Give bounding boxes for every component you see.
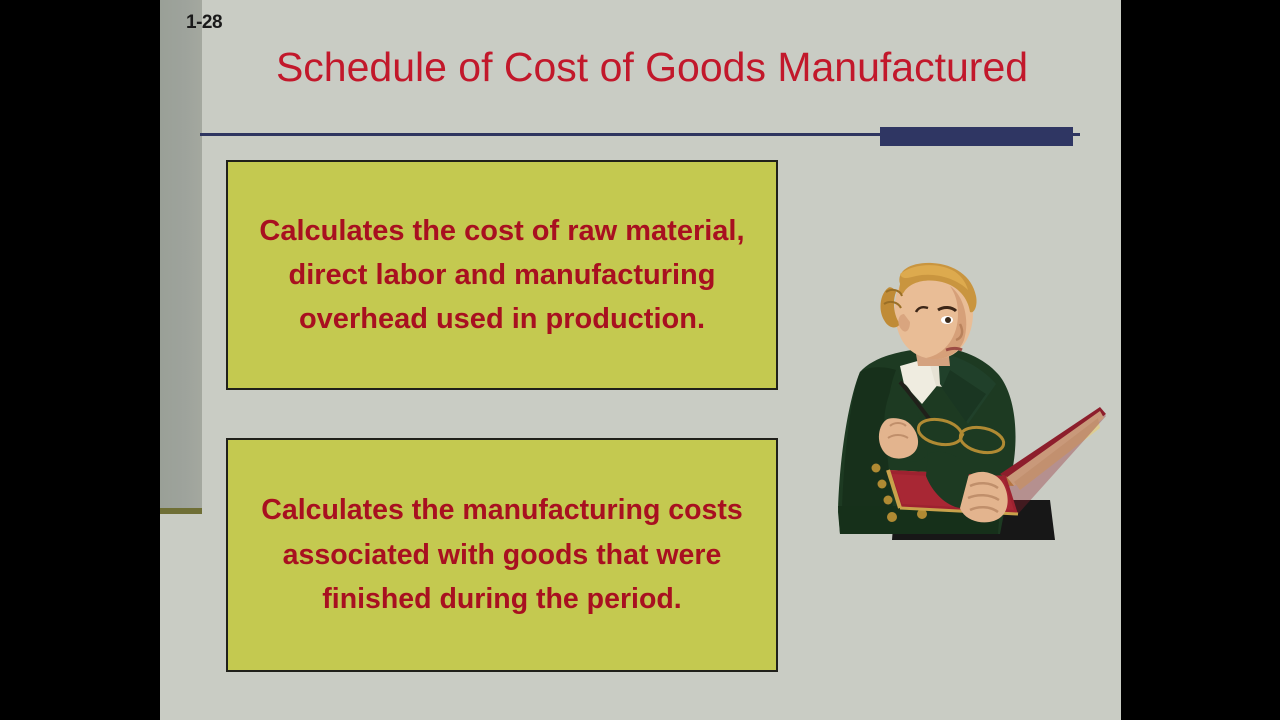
page-title: Schedule of Cost of Goods Manufactured [202,44,1102,91]
slide-number: 1-28 [186,12,222,34]
woman-reading-book-illustration [800,262,1110,547]
title-accent-block [880,127,1073,146]
callout-box-1-text: Calculates the cost of raw material, dir… [244,209,759,341]
callout-box-2: Calculates the manufacturing costs assoc… [226,438,778,672]
callout-box-1: Calculates the cost of raw material, dir… [226,160,778,390]
callout-box-2-text: Calculates the manufacturing costs assoc… [244,488,759,621]
left-decoration-band [160,0,202,514]
letterbox-bar-left [0,0,160,720]
left-decoration-band-foot [160,508,202,514]
letterbox-bar-right [1121,0,1280,720]
slide-canvas: 1-28 Schedule of Cost of Goods Manufactu… [160,0,1121,720]
presentation-screen: 1-28 Schedule of Cost of Goods Manufactu… [0,0,1280,720]
